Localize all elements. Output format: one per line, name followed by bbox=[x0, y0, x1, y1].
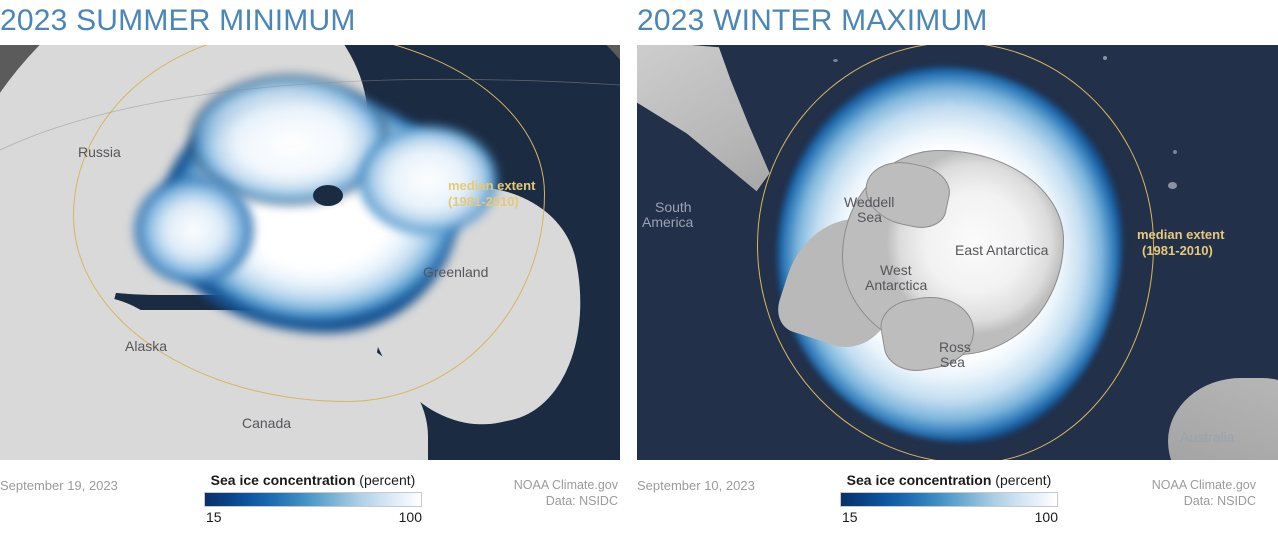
landmass-south-america bbox=[637, 45, 774, 220]
legend-title-unit-antarctic: (percent) bbox=[995, 472, 1051, 488]
credit-line2-antarctic: Data: NSIDC bbox=[1152, 493, 1256, 509]
legend-antarctic: Sea ice concentration (percent) 15 100 bbox=[840, 472, 1058, 527]
legend-tick-min-antarctic: 15 bbox=[842, 509, 858, 525]
arctic-globe-disc bbox=[0, 45, 620, 460]
credit-line1-antarctic: NOAA Climate.gov bbox=[1152, 477, 1256, 493]
legend-colorbar-arctic bbox=[204, 492, 422, 507]
landmass-australia bbox=[1168, 378, 1278, 460]
panel-arctic: 2023 SUMMER MINIMUM bbox=[0, 0, 620, 534]
legend-ticks-antarctic: 15 100 bbox=[840, 509, 1056, 527]
panel-title-antarctic: 2023 WINTER MAXIMUM bbox=[637, 0, 988, 45]
legend-tick-max-antarctic: 100 bbox=[1035, 509, 1058, 525]
caption-arctic: September 19, 2023 Sea ice concentration… bbox=[0, 462, 620, 534]
date-label-antarctic: September 10, 2023 bbox=[637, 478, 755, 493]
legend-title-bold-arctic: Sea ice concentration bbox=[211, 472, 356, 488]
legend-ticks-arctic: 15 100 bbox=[204, 509, 420, 527]
legend-title-unit-arctic: (percent) bbox=[359, 472, 415, 488]
legend-title-bold-antarctic: Sea ice concentration bbox=[847, 472, 992, 488]
map-antarctic: South America Weddell Sea East Antarctic… bbox=[637, 45, 1278, 460]
island-speck bbox=[1168, 182, 1177, 189]
panel-title-arctic: 2023 SUMMER MINIMUM bbox=[0, 0, 356, 45]
island-speck bbox=[833, 59, 838, 62]
credit-arctic: NOAA Climate.gov Data: NSIDC bbox=[514, 477, 618, 509]
legend-title-arctic: Sea ice concentration (percent) bbox=[204, 472, 422, 488]
caption-antarctic: September 10, 2023 Sea ice concentration… bbox=[637, 462, 1278, 534]
date-label-arctic: September 19, 2023 bbox=[0, 478, 118, 493]
legend-tick-max-arctic: 100 bbox=[399, 509, 422, 525]
legend-arctic: Sea ice concentration (percent) 15 100 bbox=[204, 472, 422, 527]
map-label-america: America bbox=[642, 215, 693, 230]
island-speck bbox=[1173, 150, 1177, 154]
sea-ice-comparison-figure: 2023 SUMMER MINIMUM bbox=[0, 0, 1278, 534]
median-extent-contour-antarctic bbox=[757, 45, 1154, 460]
legend-title-antarctic: Sea ice concentration (percent) bbox=[840, 472, 1058, 488]
credit-antarctic: NOAA Climate.gov Data: NSIDC bbox=[1152, 477, 1256, 509]
credit-line1-arctic: NOAA Climate.gov bbox=[514, 477, 618, 493]
legend-tick-min-arctic: 15 bbox=[206, 509, 222, 525]
map-arctic: Russia Greenland Alaska Canada median ex… bbox=[0, 45, 620, 460]
credit-line2-arctic: Data: NSIDC bbox=[514, 493, 618, 509]
island-speck bbox=[1103, 56, 1107, 60]
map-label-south: South bbox=[655, 200, 692, 215]
panel-antarctic: 2023 WINTER MAXIMUM South A bbox=[637, 0, 1278, 534]
legend-colorbar-antarctic bbox=[840, 492, 1058, 507]
